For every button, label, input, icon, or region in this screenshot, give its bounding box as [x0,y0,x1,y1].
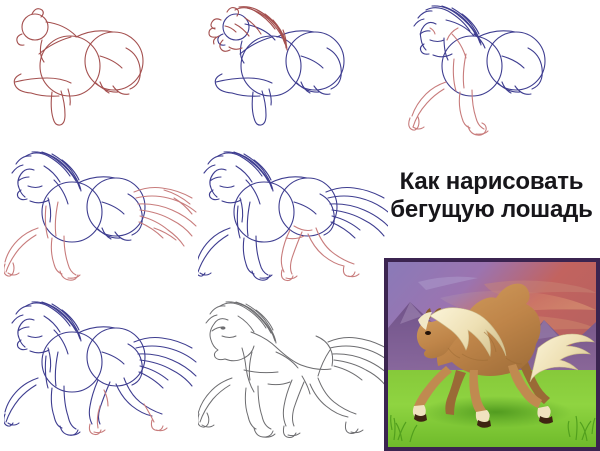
final-colored-illustration [384,258,600,451]
step-6-sketch-svg [4,292,199,450]
final-illustration-canvas [388,262,596,447]
title-line-1: Как нарисовать [400,168,584,196]
step-5-sketch-svg [198,146,388,286]
title-line-2: бегущую лошадь [390,196,592,224]
step-4-tail [4,146,199,284]
step-1-basic-shapes [8,4,193,134]
step-3-sketch-svg [400,4,595,144]
step-7-sketch-svg [198,292,388,450]
tutorial-title: Как нарисовать бегущую лошадь [383,160,600,232]
step-4-sketch-svg [4,146,199,284]
step-6-refine-legs [4,292,199,450]
tutorial-sheet: Как нарисовать бегущую лошадь [0,0,600,451]
step-2-sketch-svg [205,4,395,134]
step-1-sketch-svg [8,4,193,134]
step-7-clean-lineart [198,292,388,450]
step-2-head-and-mane [205,4,395,134]
step-5-hind-legs [198,146,388,286]
step-3-front-legs [400,4,595,144]
horse-eye [425,331,431,335]
